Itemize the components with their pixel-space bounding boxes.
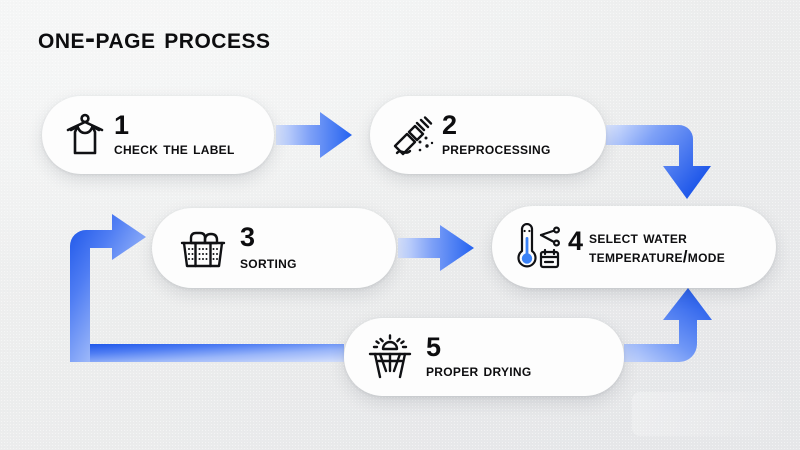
scrub-brush-icon	[386, 113, 440, 157]
thermometer-settings-icon	[506, 223, 568, 271]
arrow-step3-to-step4	[398, 225, 474, 271]
step-card-1[interactable]: 1 Check the label	[42, 96, 274, 174]
sun-drying-rack-icon	[362, 334, 418, 380]
arrow-step2-to-step4	[606, 125, 711, 199]
step-card-4-text: 4 Select water temperature/mode	[568, 228, 764, 266]
step-card-4[interactable]: 4 Select water temperature/mode	[492, 206, 776, 288]
corner-sheen	[632, 392, 782, 436]
step-card-5-text: 5 Proper drying	[426, 335, 532, 380]
step-number: 1	[114, 113, 235, 139]
step-card-3[interactable]: 3 Sorting	[152, 208, 396, 288]
step-label: Sorting	[240, 254, 297, 271]
shirt-on-hanger-icon	[60, 113, 110, 157]
step-label: Proper drying	[426, 362, 532, 379]
step-card-5[interactable]: 5 Proper drying	[344, 318, 624, 396]
step-number: 5	[426, 335, 532, 361]
slide-canvas: One-page Process	[0, 0, 800, 450]
step-label: Preprocessing	[442, 140, 551, 157]
step-label: Check the label	[114, 140, 235, 157]
step-number: 2	[442, 113, 551, 139]
page-title: One-page Process	[38, 22, 270, 56]
step-card-2-text: 2 Preprocessing	[442, 113, 551, 158]
step-card-1-text: 1 Check the label	[114, 113, 235, 158]
laundry-basket-icon	[174, 226, 232, 270]
arrow-step4-to-step5-loop	[624, 288, 712, 362]
arrow-step1-to-step2	[276, 112, 352, 158]
step-number: 3	[240, 225, 297, 251]
step-number: 4	[568, 229, 583, 255]
step-label: Select water temperature/mode	[589, 228, 764, 266]
step-card-2[interactable]: 2 Preprocessing	[370, 96, 606, 174]
step-card-3-text: 3 Sorting	[240, 225, 297, 272]
